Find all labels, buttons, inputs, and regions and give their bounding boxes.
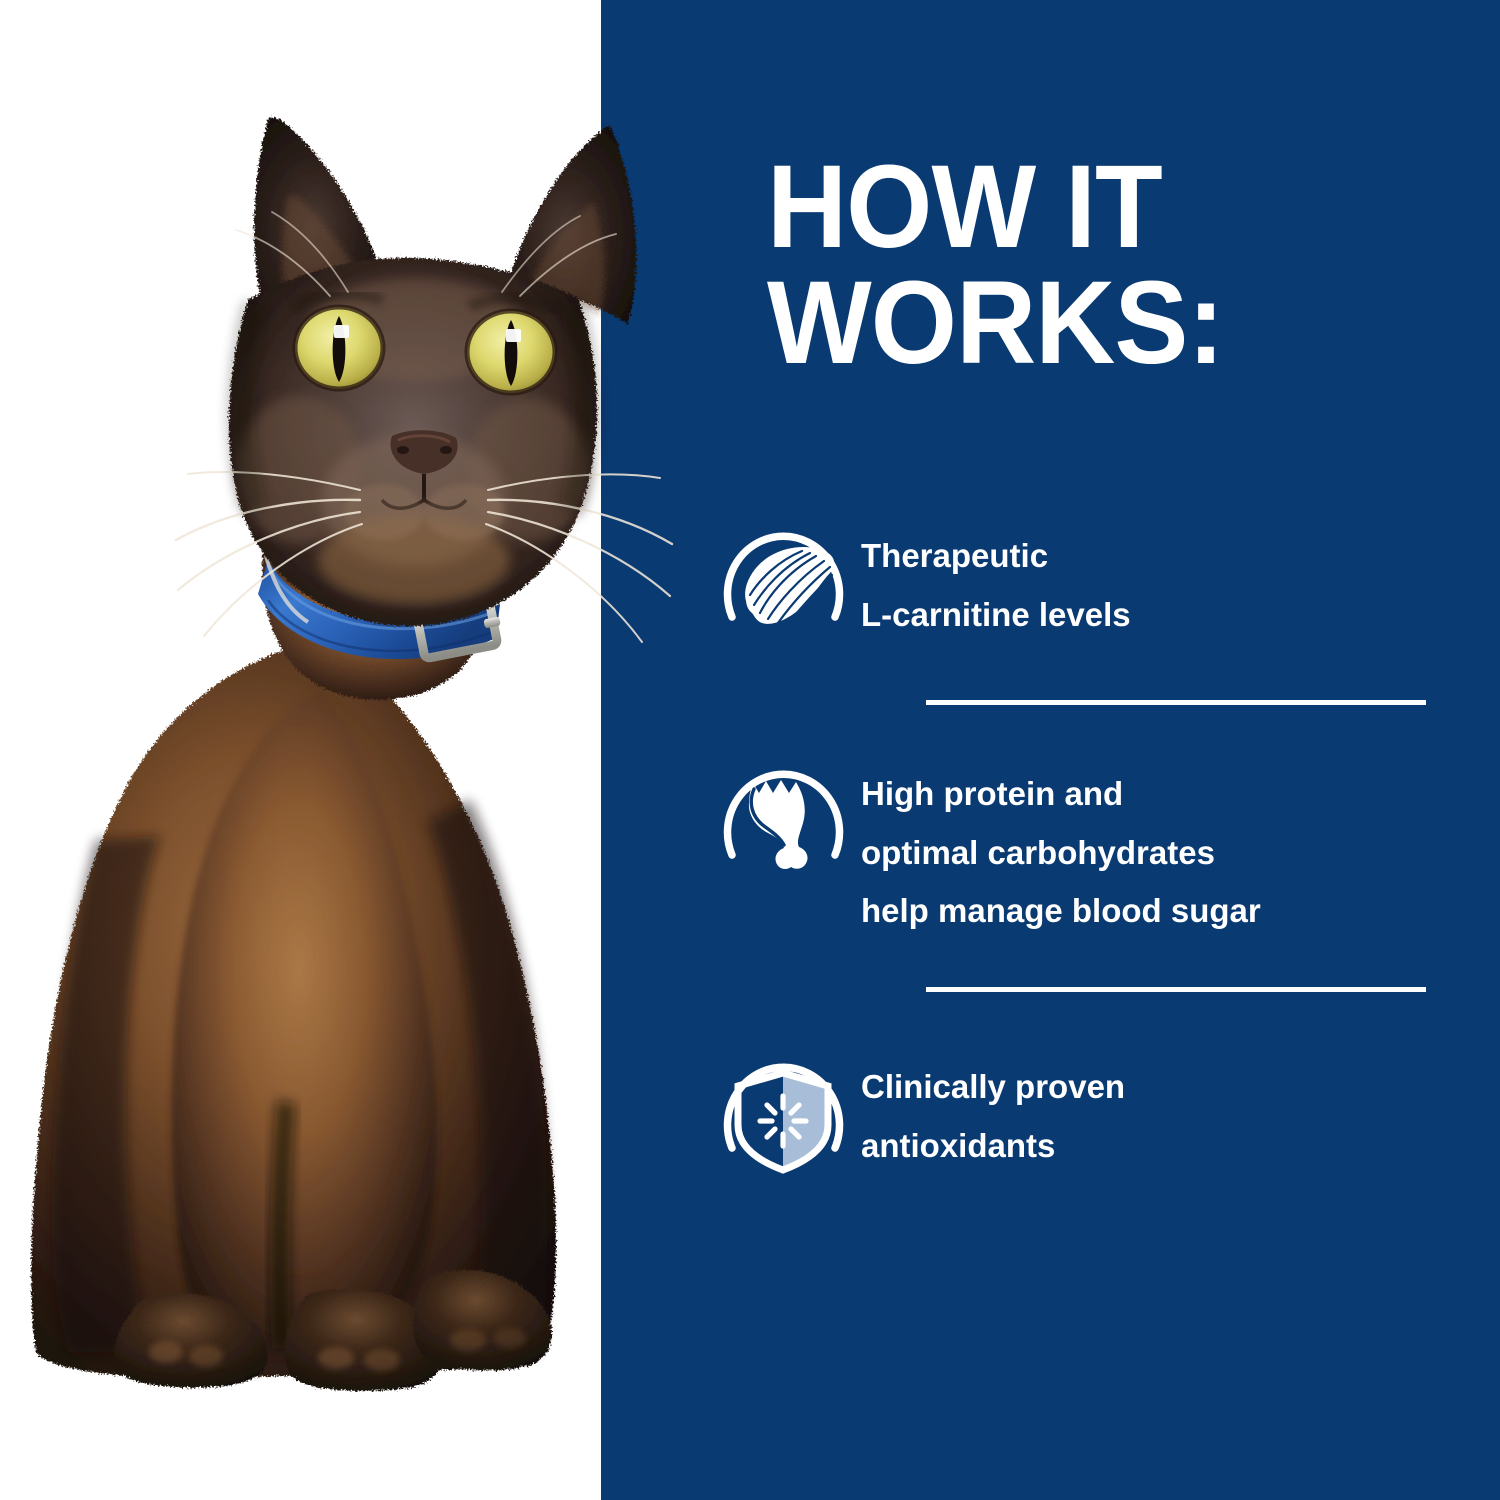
benefit-text: Therapeutic L-carnitine levels: [861, 505, 1466, 644]
benefit-list: Therapeutic L-carnitine levels High pro: [706, 505, 1466, 1191]
headline-line-1: HOW IT: [767, 150, 1425, 266]
benefit-item-therapeutic-l-carnitine: Therapeutic L-carnitine levels: [706, 505, 1466, 660]
benefit-text: Clinically proven antioxidants: [861, 1036, 1466, 1175]
benefit-line: High protein and: [861, 765, 1466, 824]
benefit-line: Therapeutic: [861, 527, 1466, 586]
benefit-item-antioxidants: Clinically proven antioxidants: [706, 1036, 1466, 1191]
photo-panel: [0, 0, 601, 1500]
muscle-fiber-icon: [706, 509, 861, 664]
antioxidant-shield-icon: [706, 1040, 861, 1195]
benefit-line: Clinically proven: [861, 1058, 1466, 1117]
benefit-item-high-protein: High protein and optimal carbohydrates h…: [706, 743, 1466, 941]
benefit-line: L-carnitine levels: [861, 586, 1466, 645]
benefit-line: antioxidants: [861, 1117, 1466, 1176]
headline-line-2: WORKS:: [767, 266, 1425, 382]
benefit-line: help manage blood sugar: [861, 882, 1466, 941]
benefit-line: optimal carbohydrates: [861, 824, 1466, 883]
benefit-text: High protein and optimal carbohydrates h…: [861, 743, 1466, 941]
info-panel: HOW IT WORKS:: [601, 0, 1500, 1500]
product-benefits-banner: HOW IT WORKS:: [0, 0, 1500, 1500]
poultry-drumstick-icon: [706, 747, 861, 902]
page-title: HOW IT WORKS:: [767, 150, 1425, 381]
